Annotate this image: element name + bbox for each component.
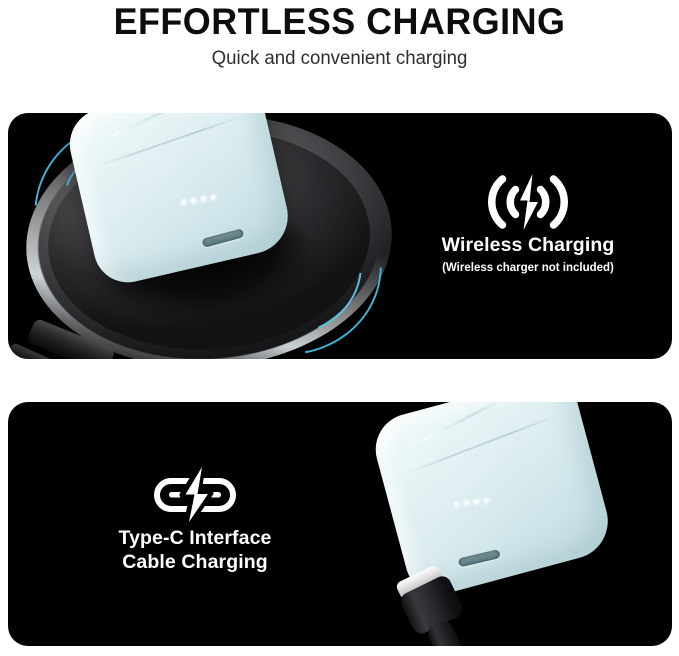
usb-c-connector: [392, 562, 454, 613]
led-indicator: [473, 499, 480, 506]
wireless-charging-pad-scene: [8, 113, 408, 359]
case-lid-seam: [98, 114, 245, 166]
case-usb-c-port: [202, 228, 245, 248]
wireless-charging-icon: [398, 171, 658, 233]
wireless-charging-label: Wireless Charging: [398, 233, 658, 257]
led-indicator: [190, 197, 197, 204]
feature-type-c-charging: Type-C Interface Cable Charging: [60, 464, 330, 574]
led-indicator: [463, 500, 470, 507]
wireless-charging-note: (Wireless charger not included): [398, 260, 658, 276]
case-lid-seam: [407, 414, 559, 474]
case-led-indicators: [181, 194, 217, 206]
type-c-label-line-2: Cable Charging: [60, 550, 330, 574]
page-subtitle: Quick and convenient charging: [7, 46, 672, 72]
earbud-charging-case-typec: [368, 402, 617, 602]
page-title: EFFORTLESS CHARGING: [10, 2, 669, 42]
feature-wireless-charging: Wireless Charging (Wireless charger not …: [398, 171, 658, 276]
type-c-label-line-1: Type-C Interface: [60, 526, 330, 550]
case-usb-c-port: [458, 549, 501, 567]
panel-type-c-charging: Type-C Interface Cable Charging: [8, 402, 672, 646]
case-led-indicators: [453, 498, 489, 508]
led-indicator: [210, 194, 217, 201]
led-indicator: [181, 199, 188, 206]
led-indicator: [453, 501, 460, 508]
led-indicator: [200, 196, 207, 203]
type-c-charging-icon: [60, 464, 330, 526]
header: EFFORTLESS CHARGING Quick and convenient…: [0, 0, 679, 72]
panel-wireless-charging: Wireless Charging (Wireless charger not …: [8, 113, 672, 359]
led-indicator: [483, 498, 490, 505]
